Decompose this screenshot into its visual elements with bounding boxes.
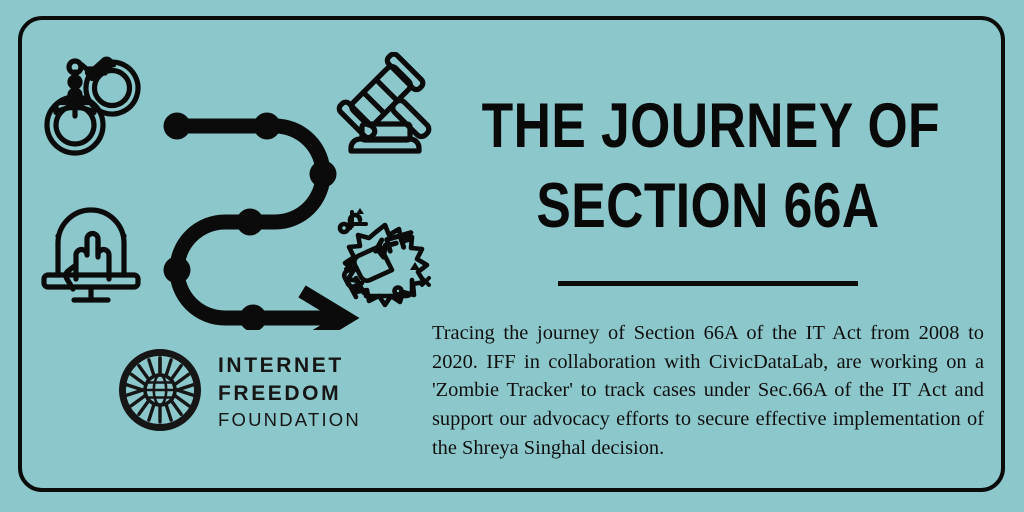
flow-node [164, 113, 191, 140]
logo-text-freedom: FREEDOM [218, 383, 361, 404]
logo-text-foundation: FOUNDATION [218, 411, 361, 430]
flow-node [164, 257, 191, 284]
logo-text-internet: INTERNET [218, 355, 361, 376]
title-divider-rule [558, 281, 858, 286]
flow-node [240, 305, 267, 331]
iff-logo-wordmark: INTERNET FREEDOM FOUNDATION [218, 355, 361, 430]
content-column: THE JOURNEY OF SECTION 66A Tracing the j… [432, 52, 984, 483]
flow-node [254, 113, 281, 140]
iff-logo: INTERNET FREEDOM FOUNDATION [118, 348, 361, 437]
chakra-globe-icon [118, 348, 202, 437]
title-line-1: THE JOURNEY OF [482, 94, 935, 158]
serpentine-journey-path [130, 95, 365, 330]
title-line-2: SECTION 66A [482, 174, 935, 238]
handcuffs-icon [38, 52, 144, 160]
witness-stand-hand-icon [38, 195, 144, 305]
page-title: THE JOURNEY OF SECTION 66A [482, 94, 935, 239]
journey-graphic [30, 40, 450, 330]
flow-node [237, 209, 264, 236]
flow-node [310, 161, 337, 188]
body-paragraph: Tracing the journey of Section 66A of th… [432, 319, 984, 463]
poster-canvas: INTERNET FREEDOM FOUNDATION THE JOURNEY … [0, 0, 1024, 512]
